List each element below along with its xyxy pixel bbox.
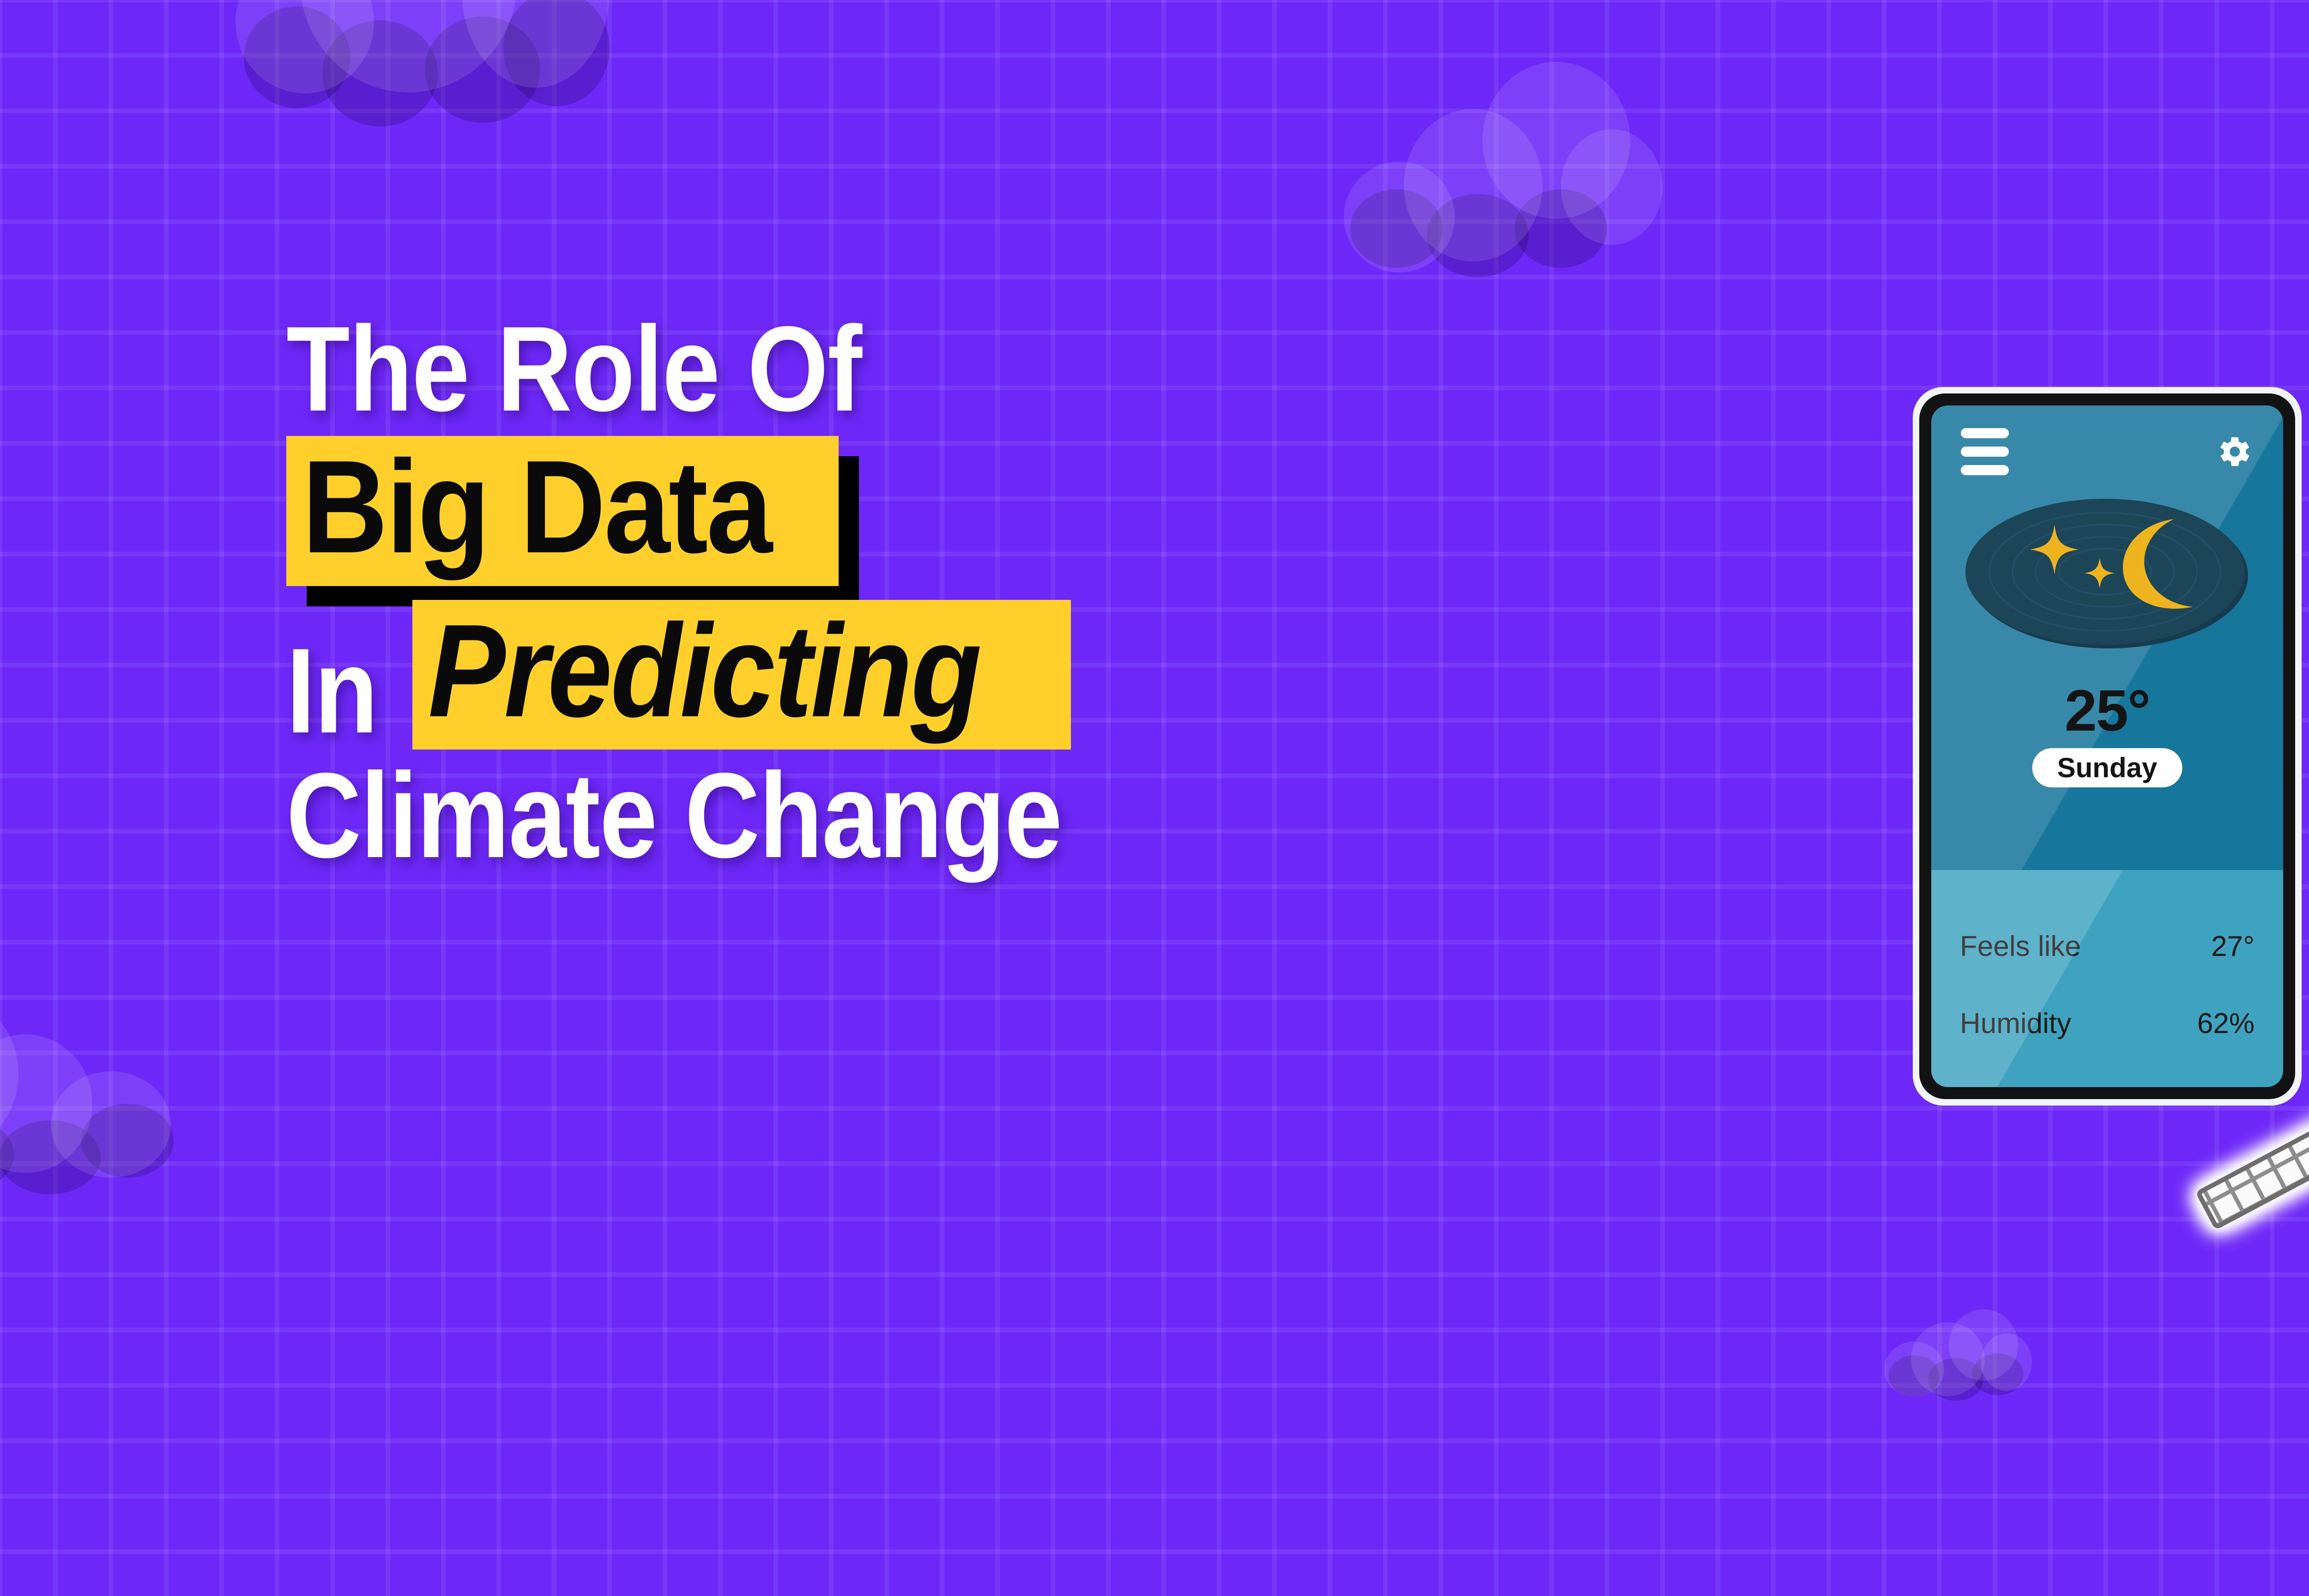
feels-like-label: Feels like [1960, 930, 2081, 963]
cloud-bottom-left [0, 965, 185, 1182]
windmill-photo [2129, 822, 2309, 1596]
poster-canvas: console Flare. The Role Of Big Data In P… [0, 0, 2309, 1596]
hamburger-menu-icon[interactable] [1961, 428, 2009, 475]
cloud-bottom-center [1884, 1309, 2027, 1397]
headline-highlight-big-data: Big Data [302, 443, 771, 570]
headline-row-3: In Predicting [286, 600, 1718, 750]
card-topbar [1931, 405, 2283, 498]
headline-highlight-predicting: Predicting [428, 607, 980, 734]
headline-word-in: In [286, 632, 377, 750]
highlight-predicting: Predicting [412, 600, 1071, 750]
moon-stars-icon [1964, 497, 2250, 649]
headline-line-1: The Role Of [286, 310, 1517, 428]
day-badge: Sunday [2032, 748, 2182, 787]
cloud-top-center [1330, 79, 1616, 254]
gear-icon[interactable] [2213, 431, 2254, 472]
cloud-top-left [217, 0, 586, 115]
humidity-label: Humidity [1960, 1007, 2071, 1040]
headline-block: The Role Of Big Data In Predicting Clima… [286, 310, 1718, 874]
highlight-big-data: Big Data [286, 436, 839, 586]
temperature-value: 25° [1931, 677, 2283, 744]
headline-line-4: Climate Change [286, 757, 1517, 874]
